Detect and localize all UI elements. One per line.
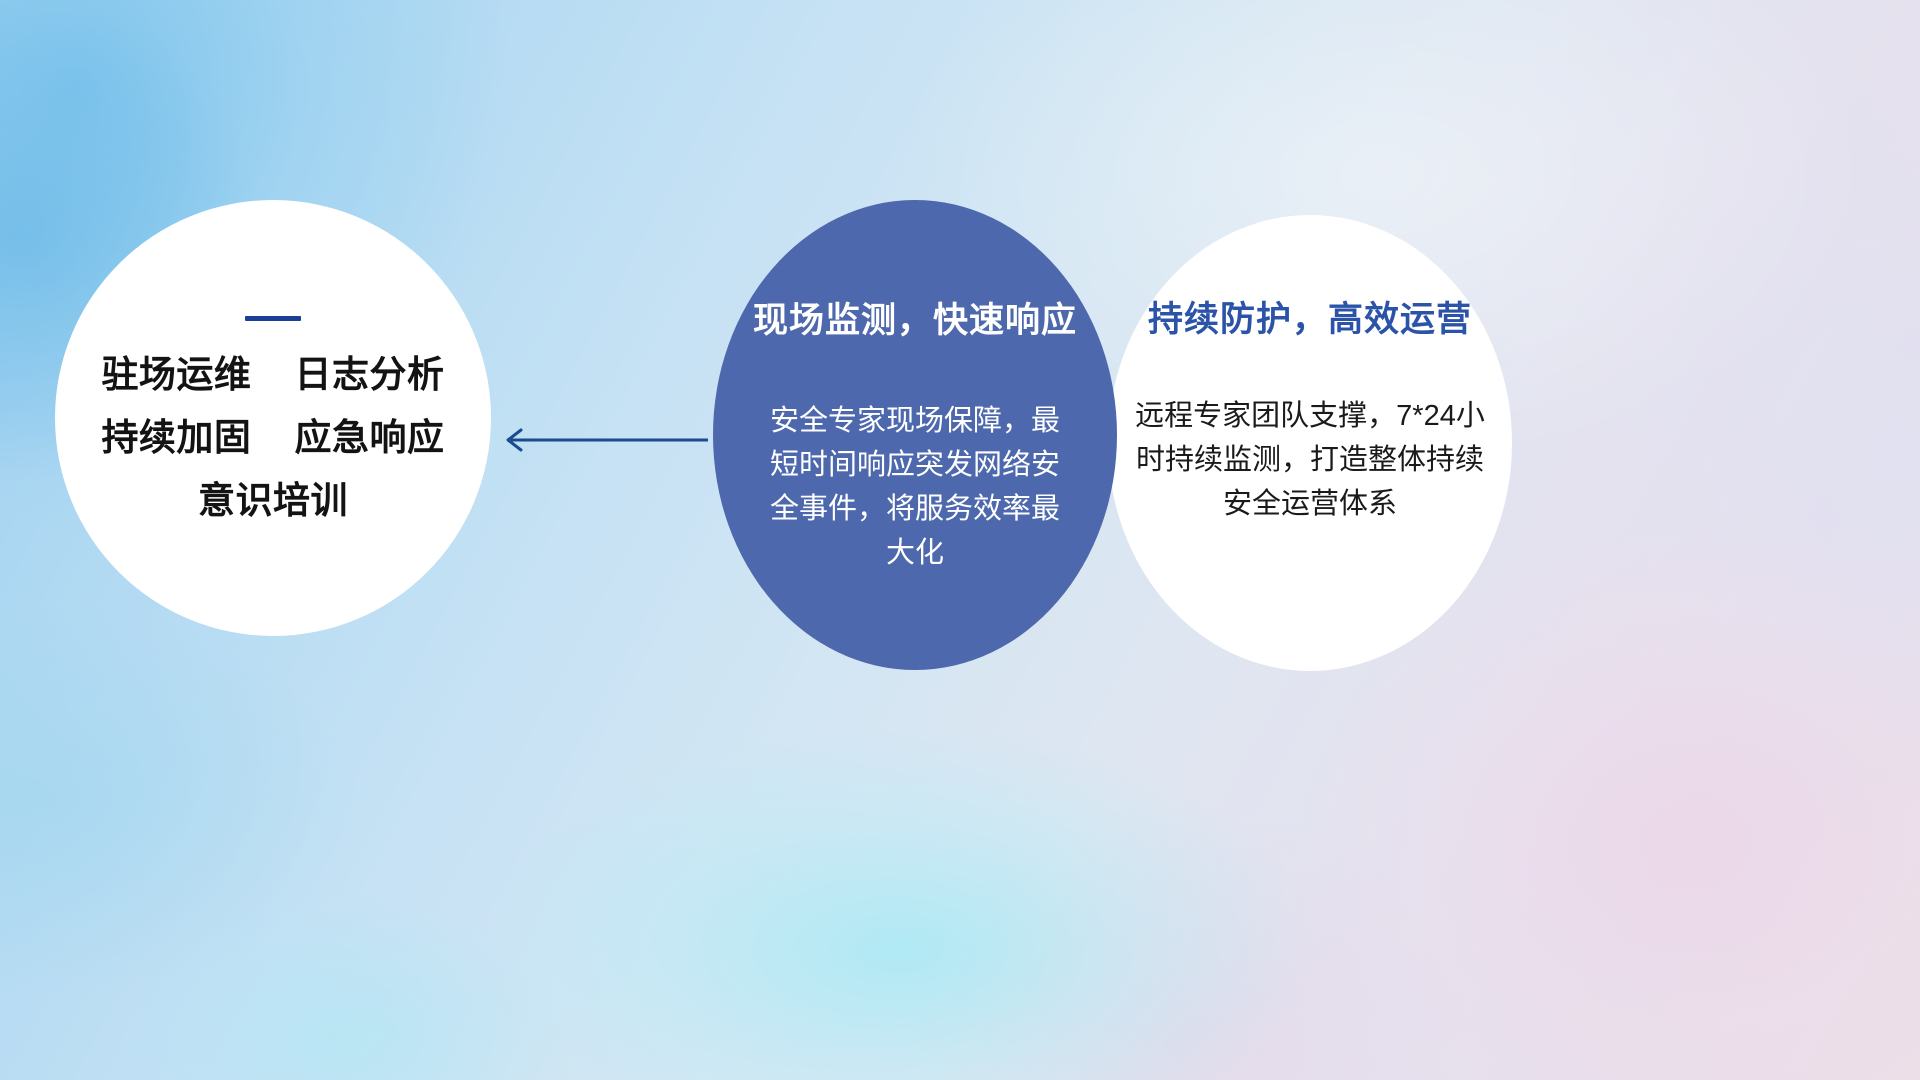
- middle-card-body: 安全专家现场保障，最短时间响应突发网络安全事件，将服务效率最大化: [760, 399, 1070, 575]
- right-feature-circle[interactable]: 持续防护，高效运营 远程专家团队支撑，7*24小时持续监测，打造整体持续安全运营…: [1108, 215, 1512, 671]
- left-keyword-list: 驻场运维 日志分析 持续加固 应急响应 意识培训: [101, 355, 444, 521]
- middle-feature-circle[interactable]: 现场监测，快速响应 安全专家现场保障，最短时间响应突发网络安全事件，将服务效率最…: [713, 200, 1117, 670]
- left-keyword-line-1: 驻场运维 日志分析: [101, 355, 444, 394]
- right-card-body: 远程专家团队支撑，7*24小时持续监测，打造整体持续安全运营体系: [1132, 394, 1488, 526]
- slide-canvas: 驻场运维 日志分析 持续加固 应急响应 意识培训 持续防护，高效运营 远程专家团…: [0, 0, 1920, 1080]
- right-card-title: 持续防护，高效运营: [1148, 291, 1472, 342]
- middle-card-title: 现场监测，快速响应: [753, 292, 1077, 343]
- left-keyword-line-2: 持续加固 应急响应: [101, 418, 444, 457]
- divider-line: [245, 316, 301, 321]
- left-keyword-line-3: 意识培训: [198, 481, 348, 520]
- arrow-left-icon: [497, 425, 709, 455]
- left-summary-circle[interactable]: 驻场运维 日志分析 持续加固 应急响应 意识培训: [55, 200, 491, 636]
